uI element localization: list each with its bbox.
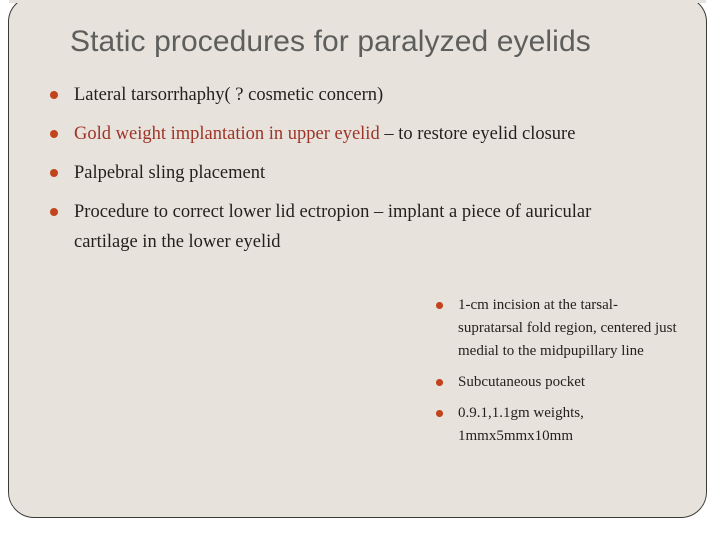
list-item[interactable]: 0.9.1,1.1gm weights, 1mmx5mmx10mm <box>428 402 678 448</box>
list-item-label: 0.9.1,1.1gm weights, 1mmx5mmx10mm <box>458 405 584 444</box>
list-item-label: Subcutaneous pocket <box>458 374 585 390</box>
bullet-dot-icon <box>436 410 443 417</box>
list-item-label: – to restore eyelid closure <box>380 124 576 144</box>
list-item-label: Lateral tarsorrhaphy( ? cosmetic concern… <box>74 85 383 105</box>
bullet-dot-icon <box>50 208 58 216</box>
list-item-label: Palpebral sling placement <box>74 163 265 183</box>
list-item[interactable]: Procedure to correct lower lid ectropion… <box>44 197 656 257</box>
page-title: Static procedures for paralyzed eyelids <box>70 22 670 62</box>
list-item[interactable]: Palpebral sling placement <box>44 158 656 188</box>
list-item[interactable]: 1-cm incision at the tarsal-supratarsal … <box>428 294 678 363</box>
list-item-highlight: Gold weight implantation in upper eyelid <box>74 124 380 144</box>
bullet-dot-icon <box>436 302 443 309</box>
slide-title-area: Static procedures for paralyzed eyelids <box>70 22 670 66</box>
bullet-dot-icon <box>50 91 58 99</box>
slide-panel-top-bleed <box>9 0 706 3</box>
list-item-label: Procedure to correct lower lid ectropion… <box>74 202 591 252</box>
bullet-dot-icon <box>50 130 58 138</box>
bullet-dot-icon <box>436 379 443 386</box>
list-item-label: 1-cm incision at the tarsal-supratarsal … <box>458 297 677 359</box>
main-bullet-list: Lateral tarsorrhaphy( ? cosmetic concern… <box>44 80 656 266</box>
list-item[interactable]: Subcutaneous pocket <box>428 371 678 394</box>
bullet-dot-icon <box>50 169 58 177</box>
list-item[interactable]: Lateral tarsorrhaphy( ? cosmetic concern… <box>44 80 656 110</box>
list-item[interactable]: Gold weight implantation in upper eyelid… <box>44 119 656 149</box>
sub-bullet-list: 1-cm incision at the tarsal-supratarsal … <box>428 294 678 456</box>
presentation-slide: Static procedures for paralyzed eyelids … <box>0 0 720 540</box>
